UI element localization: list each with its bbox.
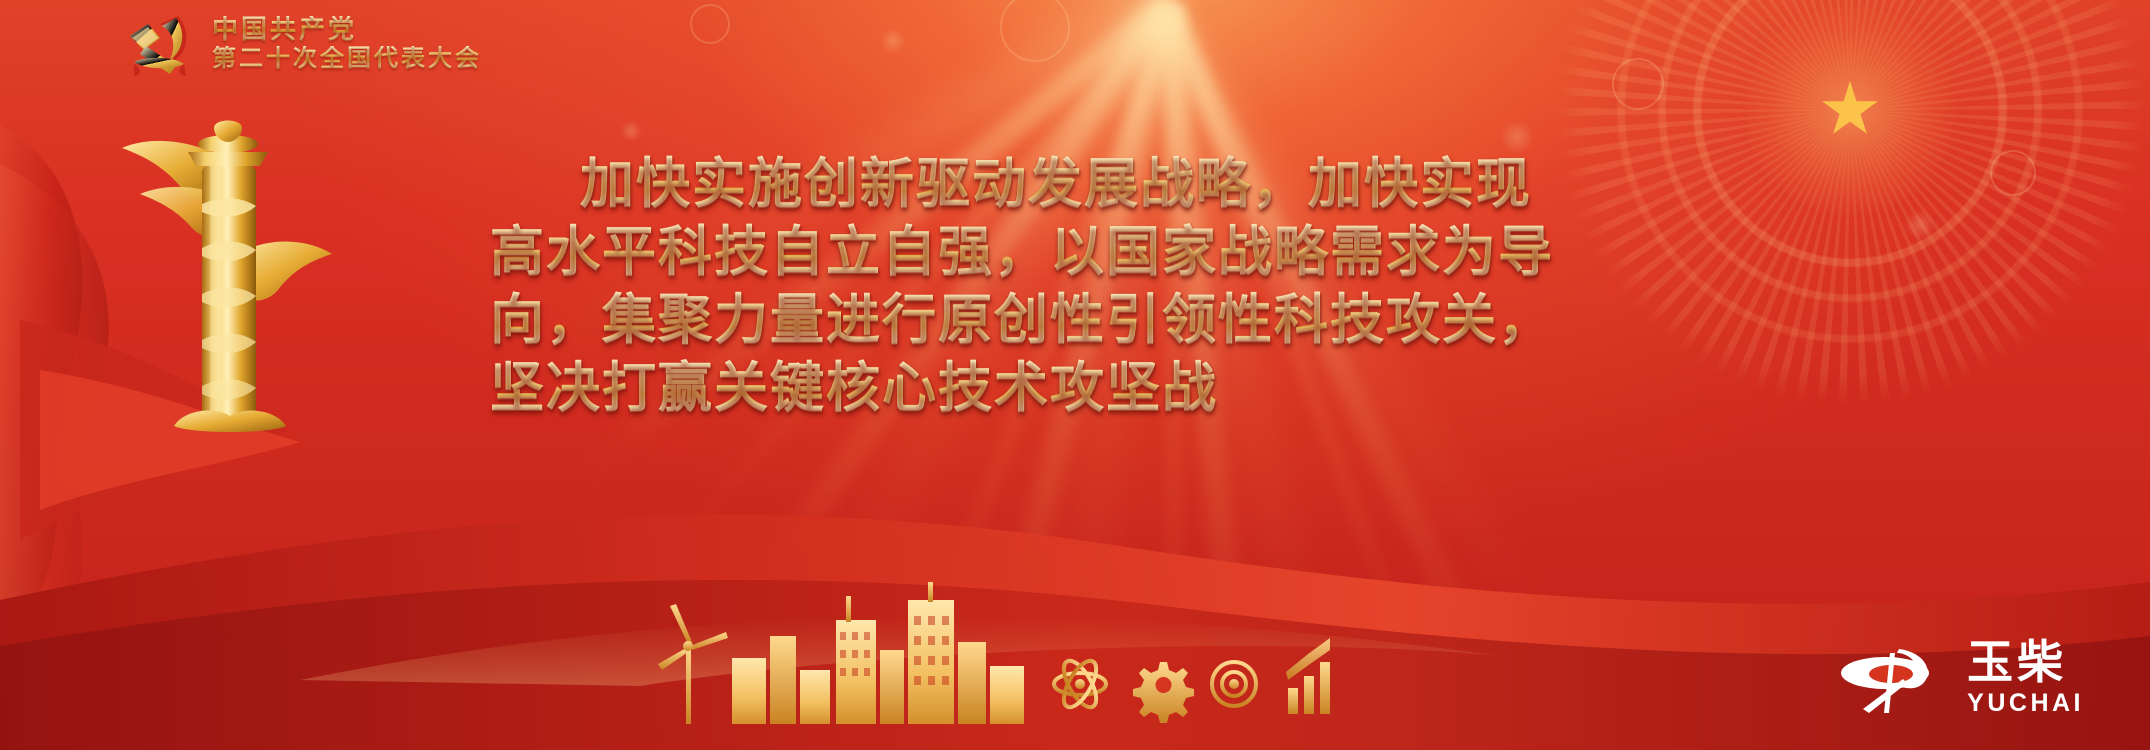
hammer-and-sickle-icon bbox=[120, 8, 198, 80]
slogan-line-2: 高水平科技自立自强，以国家战略需求为导 bbox=[480, 218, 1660, 286]
party-emblem: 中国共产党 第二十次全国代表大会 bbox=[120, 8, 482, 80]
slogan-line-1: 加快实施创新驱动发展战略，加快实现 bbox=[480, 150, 1660, 218]
slogan-line-3: 向，集聚力量进行原创性引领性科技攻关， bbox=[480, 286, 1660, 354]
yuchai-en-name: YUCHAI bbox=[1967, 689, 2084, 718]
bokeh-circle bbox=[1000, 0, 1070, 62]
gear-icon bbox=[1133, 662, 1194, 723]
slogan-line-4: 坚决打赢关键核心技术攻坚战 bbox=[480, 354, 1660, 422]
yuchai-ellipse-mark bbox=[1839, 641, 1951, 717]
growth-chart-icon bbox=[1286, 638, 1330, 714]
emblem-line-1: 中国共产党 bbox=[212, 16, 482, 44]
emblem-line-2: 第二十次全国代表大会 bbox=[212, 46, 482, 72]
bokeh-circle bbox=[880, 28, 906, 54]
bokeh-circle bbox=[620, 120, 642, 142]
wind-turbine-icon bbox=[658, 604, 728, 724]
banner-root: 中国共产党 第二十次全国代表大会 加快实施创新驱动发展战略，加快实现 高水平科技… bbox=[0, 0, 2150, 750]
slogan-block: 加快实施创新驱动发展战略，加快实现 高水平科技自立自强，以国家战略需求为导 向，… bbox=[480, 150, 1660, 422]
yuchai-cn-name: 玉柴 bbox=[1967, 639, 2067, 685]
city-skyline bbox=[640, 580, 1360, 740]
huabiao-column bbox=[110, 108, 350, 438]
bokeh-circle bbox=[690, 4, 730, 44]
yuchai-logo: 玉柴 YUCHAI bbox=[1839, 639, 2084, 718]
